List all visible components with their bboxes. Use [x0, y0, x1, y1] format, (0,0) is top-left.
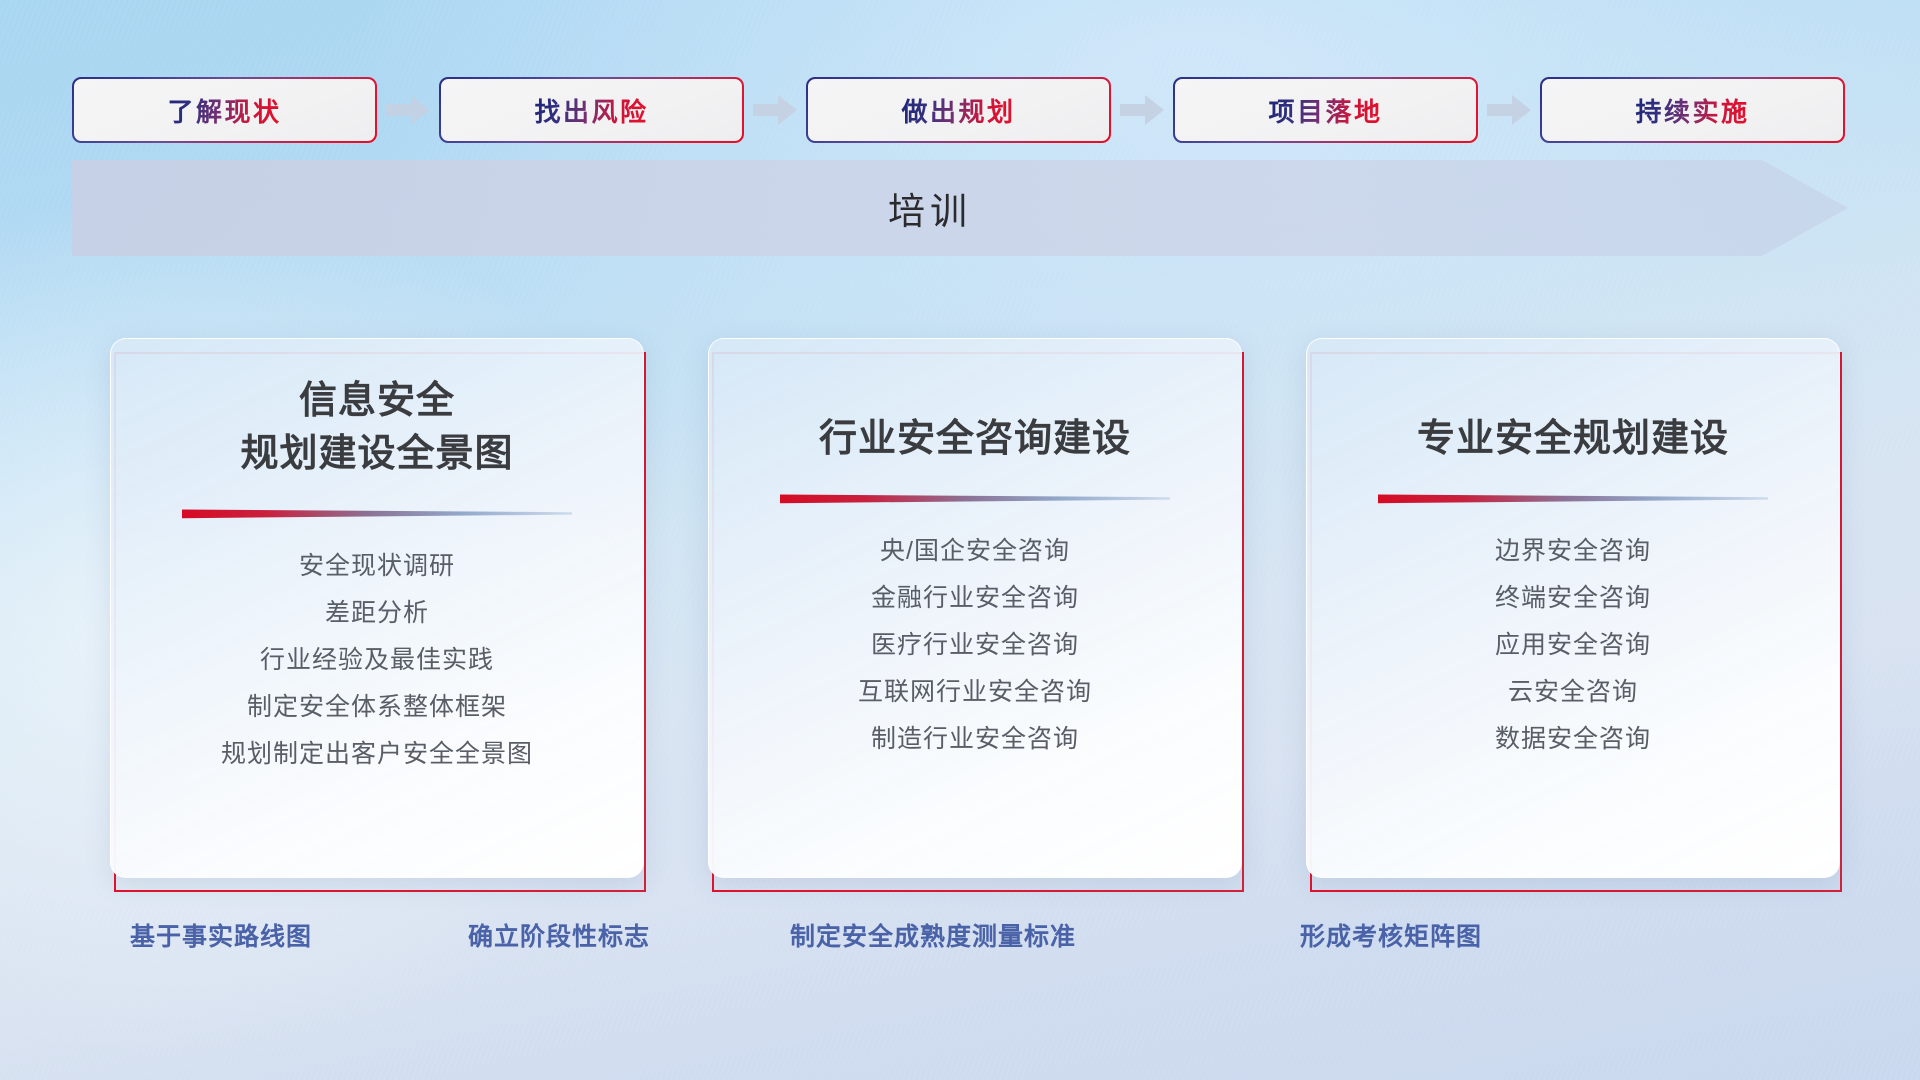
list-item: 数据安全咨询	[1307, 716, 1839, 763]
list-item: 行业经验及最佳实践	[111, 637, 643, 684]
slide-canvas: 了解现状 找出风险 做出规划 项目落地	[0, 0, 1920, 1080]
tapered-divider-icon-2	[1306, 492, 1840, 506]
card-title-2: 专业安全规划建设	[1417, 413, 1729, 466]
list-item: 央/国企安全咨询	[709, 528, 1241, 575]
list-item: 医疗行业安全咨询	[709, 622, 1241, 669]
caption-milestones: 确立阶段性标志	[468, 917, 650, 953]
card-list-2: 边界安全咨询 终端安全咨询 应用安全咨询 云安全咨询 数据安全咨询	[1307, 528, 1839, 763]
list-item: 互联网行业安全咨询	[709, 669, 1241, 716]
list-item: 差距分析	[111, 590, 643, 637]
caption-maturity: 制定安全成熟度测量标准	[790, 917, 1076, 953]
list-item: 规划制定出客户安全全景图	[111, 731, 643, 778]
step-item-2[interactable]: 做出规划	[806, 77, 1111, 143]
card-body-1: 行业安全咨询建设	[708, 338, 1242, 878]
card-body-2: 专业安全规划建设	[1306, 338, 1840, 878]
step-label-3: 项目落地	[1268, 92, 1382, 129]
step-label-0: 了解现状	[167, 92, 281, 129]
training-banner-label: 培训	[72, 160, 1848, 256]
arrow-right-icon-1	[744, 77, 806, 143]
process-step-row: 了解现状 找出风险 做出规划 项目落地	[72, 77, 1848, 143]
step-item-0[interactable]: 了解现状	[72, 77, 377, 143]
list-item: 安全现状调研	[111, 543, 643, 590]
list-item: 制造行业安全咨询	[709, 716, 1241, 763]
card-list-1: 央/国企安全咨询 金融行业安全咨询 医疗行业安全咨询 互联网行业安全咨询 制造行…	[709, 528, 1241, 763]
tapered-divider-icon-1	[708, 492, 1242, 506]
card-list-0: 安全现状调研 差距分析 行业经验及最佳实践 制定安全体系整体框架 规划制定出客户…	[111, 543, 643, 778]
caption-row: 基于事实路线图 确立阶段性标志 制定安全成熟度测量标准 形成考核矩阵图	[0, 917, 1920, 967]
card-panorama[interactable]: 信息安全 规划建设全景图	[110, 338, 644, 878]
list-item: 金融行业安全咨询	[709, 575, 1241, 622]
list-item: 制定安全体系整体框架	[111, 684, 643, 731]
arrow-right-icon-0	[377, 77, 439, 143]
list-item: 边界安全咨询	[1307, 528, 1839, 575]
list-item: 云安全咨询	[1307, 669, 1839, 716]
step-label-1: 找出风险	[534, 92, 648, 129]
card-row: 信息安全 规划建设全景图	[110, 338, 1840, 878]
caption-matrix: 形成考核矩阵图	[1300, 917, 1482, 953]
card-title-0: 信息安全 规划建设全景图	[240, 375, 513, 481]
step-item-1[interactable]: 找出风险	[439, 77, 744, 143]
list-item: 终端安全咨询	[1307, 575, 1839, 622]
step-label-2: 做出规划	[901, 92, 1015, 129]
step-item-4[interactable]: 持续实施	[1540, 77, 1845, 143]
card-body-0: 信息安全 规划建设全景图	[110, 338, 644, 878]
tapered-divider-icon-0	[110, 507, 644, 521]
step-label-4: 持续实施	[1635, 92, 1749, 129]
step-item-3[interactable]: 项目落地	[1173, 77, 1478, 143]
arrow-right-icon-2	[1111, 77, 1173, 143]
caption-roadmap: 基于事实路线图	[130, 917, 312, 953]
card-title-1: 行业安全咨询建设	[819, 413, 1131, 466]
arrow-right-icon-3	[1478, 77, 1540, 143]
card-professional[interactable]: 专业安全规划建设	[1306, 338, 1840, 878]
list-item: 应用安全咨询	[1307, 622, 1839, 669]
card-industry[interactable]: 行业安全咨询建设	[708, 338, 1242, 878]
training-banner: 培训	[72, 160, 1848, 256]
